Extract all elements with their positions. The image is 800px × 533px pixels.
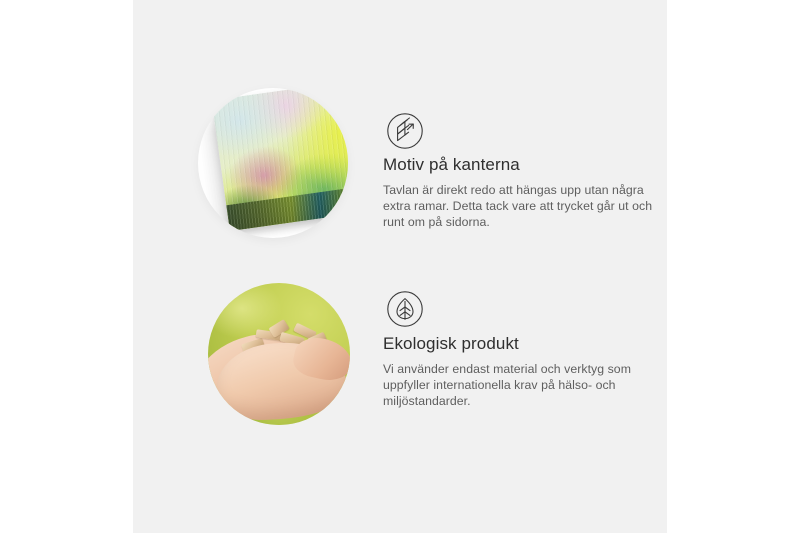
feature-description: Vi använder endast material och verktyg … [383,361,659,409]
feature-title: Motiv på kanterna [383,155,659,175]
feature-description: Tavlan är direkt redo att hängas upp uta… [383,182,659,230]
feature-title: Ekologisk produkt [383,334,659,354]
canvas-print-thumbnail [198,88,348,238]
canvas-print-object [211,88,348,231]
leaf-icon [386,290,424,328]
wood-chips-thumbnail [208,283,350,425]
feature-text-ekologisk: Ekologisk produkt Vi använder endast mat… [383,334,659,409]
feature-text-motiv: Motiv på kanterna Tavlan är direkt redo … [383,155,659,230]
product-feature-banner: Motiv på kanterna Tavlan är direkt redo … [0,0,800,533]
canvas-wrapped-edge-icon [386,112,424,150]
content-panel: Motiv på kanterna Tavlan är direkt redo … [133,0,667,533]
